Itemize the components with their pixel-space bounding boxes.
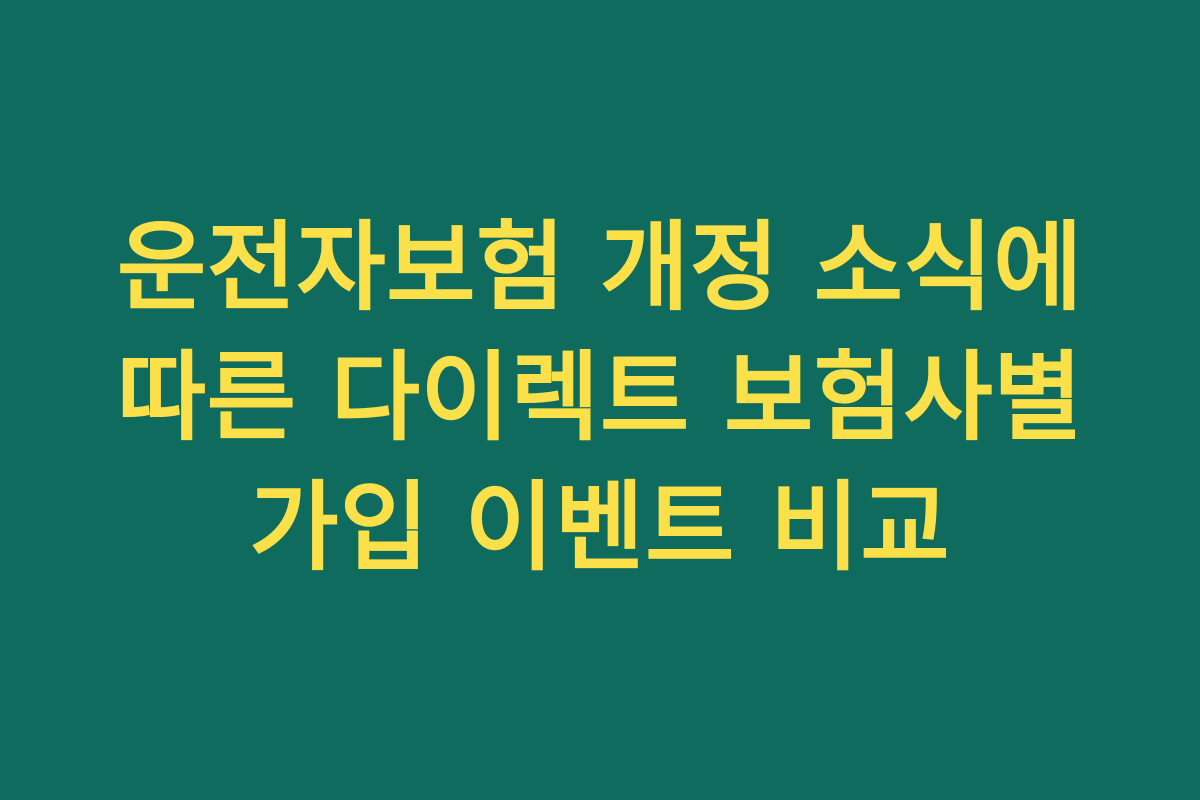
page-title: 운전자보험 개정 소식에 따른 다이렉트 보험사별 가입 이벤트 비교 xyxy=(40,203,1160,593)
headline-line-2: 따른 다이렉트 보험사별 xyxy=(40,333,1160,463)
headline-line-3: 가입 이벤트 비교 xyxy=(40,463,1160,593)
thumbnail-card: 운전자보험 개정 소식에 따른 다이렉트 보험사별 가입 이벤트 비교 xyxy=(0,0,1200,800)
headline-line-1: 운전자보험 개정 소식에 xyxy=(40,203,1160,333)
